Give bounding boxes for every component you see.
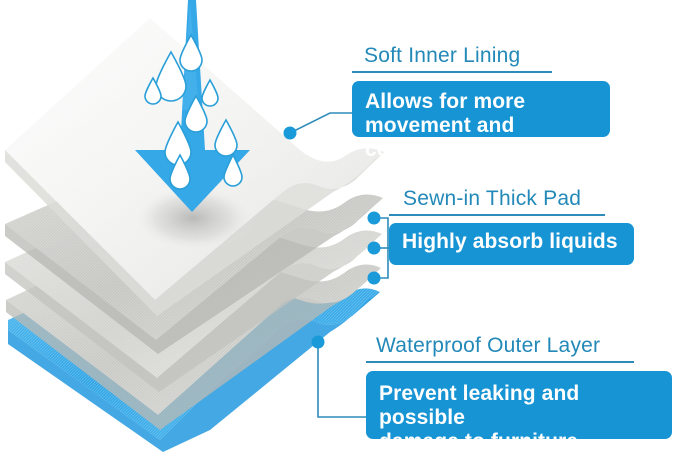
callout-underline <box>366 361 634 363</box>
callout-heading-sewn-in-thick-pad: Sewn-in Thick Pad <box>403 188 639 210</box>
callout-line: movement and comfort <box>365 114 597 162</box>
callout-line: Prevent leaking and possible <box>379 382 659 430</box>
connector-dot <box>284 127 297 140</box>
callout-line: Highly absorb liquids <box>402 230 621 254</box>
connector-sewn-in-thick-pad <box>368 212 390 285</box>
callout-underline <box>352 71 552 73</box>
connector-dot <box>312 336 325 349</box>
callout-heading-soft-inner-lining: Soft Inner Lining <box>364 45 614 67</box>
callout-line: Allows for more <box>365 90 597 114</box>
callout-underline <box>389 214 605 216</box>
callout-waterproof-outer-layer: Waterproof Outer Layer Prevent leaking a… <box>366 335 674 439</box>
connector-dot <box>368 212 381 225</box>
callout-box-sewn-in-thick-pad: Highly absorb liquids <box>389 223 634 265</box>
callout-sewn-in-thick-pad: Sewn-in Thick Pad Highly absorb liquids <box>389 188 639 265</box>
connector-soft-inner-lining <box>284 113 353 140</box>
product-feature-infographic: Soft Inner Lining Allows for more moveme… <box>0 0 679 455</box>
callout-heading-waterproof-outer-layer: Waterproof Outer Layer <box>376 335 674 357</box>
connector-dot <box>368 272 381 285</box>
callout-box-soft-inner-lining: Allows for more movement and comfort <box>352 81 610 137</box>
connector-dot <box>368 242 381 255</box>
connector-waterproof-outer-layer <box>312 336 367 418</box>
callout-line: damage to furniture <box>379 430 659 454</box>
callout-soft-inner-lining: Soft Inner Lining Allows for more moveme… <box>352 45 614 137</box>
callout-box-waterproof-outer-layer: Prevent leaking and possible damage to f… <box>366 371 672 439</box>
